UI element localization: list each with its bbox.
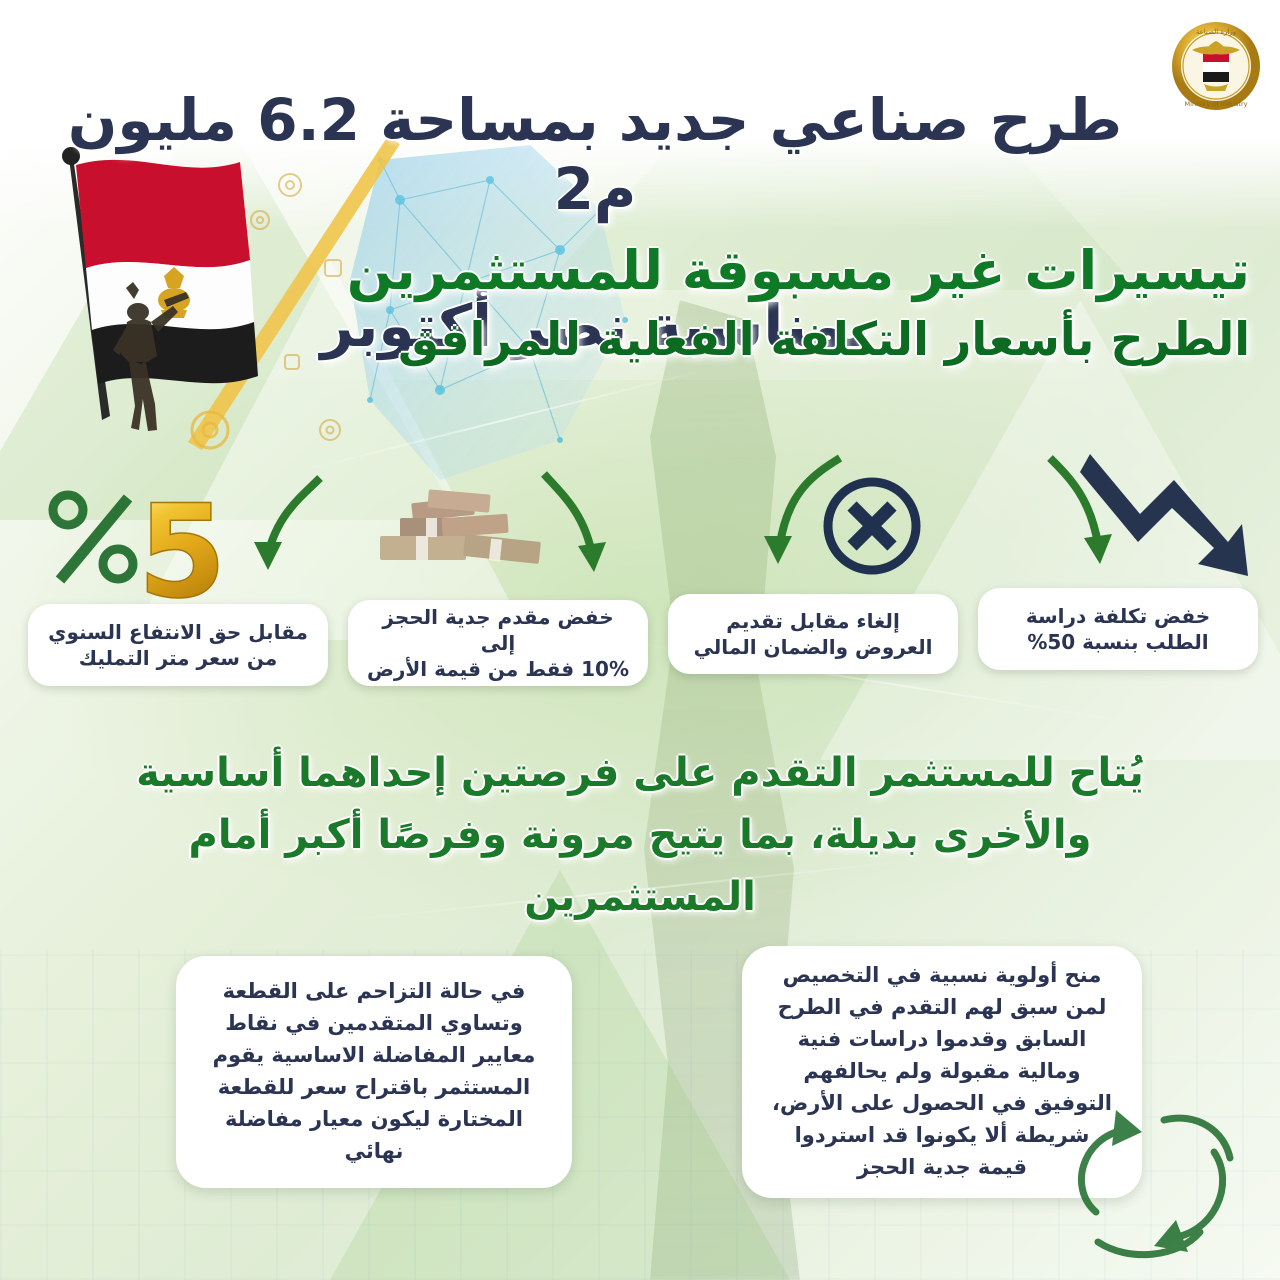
benefit-line-1: مقابل حق الانتفاع السنوي [48, 619, 308, 645]
money-stack-icon [370, 478, 580, 588]
down-trend-arrow-icon [1078, 438, 1258, 588]
infographic-poster: وزارة الصناعة Ministry of Industry طرح ص… [0, 0, 1280, 1280]
benefit-line-1: خفض مقدم جدية الحجز إلى [362, 604, 634, 656]
benefit-callout-study-cost-reduction[interactable]: خفض تكلفة دراسة الطلب بنسبة 50% [978, 588, 1258, 670]
circular-arrows-icon [1038, 1092, 1248, 1272]
bottom-box-tie-breaker-rule[interactable]: في حالة التزاحم على القطعة وتساوي المتقد… [176, 956, 572, 1188]
five-digit-label: 5 [137, 478, 226, 610]
logo-english-text: Ministry of Industry [1185, 100, 1248, 108]
middle-statement: يُتاح للمستثمر التقدم على فرصتين إحداهما… [110, 742, 1170, 928]
page-title-line-1: طرح صناعي جديد بمساحة 6.2 مليون م2 [60, 86, 1130, 223]
subtitle-line-1: تيسيرات غير مسبوقة للمستثمرين [347, 239, 1250, 302]
bottom-box-text: في حالة التزاحم على القطعة وتساوي المتقد… [202, 976, 546, 1167]
five-percent-icon: 5 [42, 470, 262, 610]
subtitle-line-2: الطرح بأسعار التكلفة الفعلية للمرافق [250, 310, 1250, 370]
benefit-callout-cancel-offers-guarantee[interactable]: إلغاء مقابل تقديم العروض والضمان المالي [668, 594, 958, 674]
benefit-line-2: الطلب بنسبة 50% [1026, 629, 1210, 655]
benefit-line-2: العروض والضمان المالي [694, 634, 933, 660]
subtitle-green: تيسيرات غير مسبوقة للمستثمرين الطرح بأسع… [250, 236, 1250, 370]
middle-statement-line-1: يُتاح للمستثمر التقدم على فرصتين إحداهما… [110, 742, 1170, 804]
benefit-callout-annual-usufruct[interactable]: مقابل حق الانتفاع السنوي من سعر متر التم… [28, 604, 328, 686]
benefit-line-2: من سعر متر التمليك [48, 645, 308, 671]
logo-arabic-text: وزارة الصناعة [1196, 28, 1236, 36]
benefit-line-1: خفض تكلفة دراسة [1026, 603, 1210, 629]
middle-statement-line-2: والأخرى بديلة، بما يتيح مرونة وفرصًا أكب… [110, 804, 1170, 928]
benefit-line-2: 10% فقط من قيمة الأرض [362, 656, 634, 682]
benefit-line-1: إلغاء مقابل تقديم [694, 608, 933, 634]
ministry-of-industry-logo: وزارة الصناعة Ministry of Industry [1170, 14, 1262, 118]
x-circle-icon [818, 472, 926, 580]
benefit-callout-reservation-downpayment[interactable]: خفض مقدم جدية الحجز إلى 10% فقط من قيمة … [348, 600, 648, 686]
